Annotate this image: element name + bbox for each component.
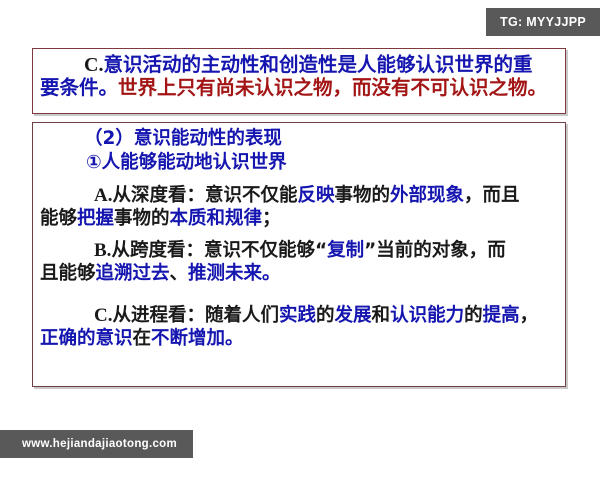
- answer-option-textbox: C.意识活动的主动性和创造性是人能够认识世界的重 要条件。世界上只有尚未认识之物…: [32, 48, 566, 114]
- run-a2-4: 本质和规律: [170, 208, 263, 229]
- option-c-text-red: 世界上只有尚未认识之物，而没有不可认识之物。: [118, 76, 547, 99]
- run-b2-3: 、: [170, 263, 189, 284]
- paragraph-b: B.从跨度看：意识不仅能够“复制”当前的对象，而 且能够追溯过去、推测未来。: [40, 241, 558, 284]
- run-a2-5: ；: [262, 208, 281, 229]
- site-url-watermark: www.hejiandajiaotong.com: [0, 430, 193, 458]
- run-c1-9: ，: [520, 305, 539, 326]
- option-c-text-blue: 意识活动的主动性和创造性是人能够认识世界的重: [103, 53, 532, 76]
- run-c1-1: 从进程看：随着人们: [112, 305, 279, 326]
- lesson-notes-content: （2）意识能动性的表现 ①人能够能动地认识世界 A.从深度看：意识不仅能反映事物…: [33, 123, 565, 386]
- option-c-line-2: 要条件。世界上只有尚未认识之物，而没有不可认识之物。: [40, 78, 558, 98]
- paragraph-marker-a: A.: [94, 185, 112, 206]
- lesson-notes-textbox: （2）意识能动性的表现 ①人能够能动地认识世界 A.从深度看：意识不仅能反映事物…: [32, 122, 566, 387]
- run-c1-2: 实践: [279, 305, 316, 326]
- paragraph-c-line-2: 正确的意识在不断增加。: [40, 330, 558, 349]
- run-c1-4: 发展: [335, 305, 372, 326]
- run-c2-1: 正确的意识: [40, 328, 133, 349]
- run-b1-1: 从跨度看：意识不仅能够“: [111, 240, 327, 261]
- run-c1-6: 认识能力: [390, 305, 464, 326]
- paragraph-c-line-1: C.从进程看：随着人们实践的发展和认识能力的提高，: [40, 306, 558, 326]
- paragraph-marker-c: C.: [94, 305, 112, 326]
- section-heading-2: （2）意识能动性的表现: [40, 130, 558, 149]
- answer-option-content: C.意识活动的主动性和创造性是人能够认识世界的重 要条件。世界上只有尚未认识之物…: [33, 49, 565, 113]
- paragraph-a-line-2: 能够把握事物的本质和规律；: [40, 210, 558, 229]
- run-b2-2: 追溯过去: [96, 263, 170, 284]
- option-c-text-blue-cont: 要条件。: [40, 76, 118, 99]
- paragraph-marker-b: B.: [94, 240, 111, 261]
- slide-canvas: TG: MYYJJPP C.意识活动的主动性和创造性是人能够认识世界的重 要条件…: [0, 0, 600, 480]
- paragraph-b-line-2: 且能够追溯过去、推测未来。: [40, 265, 558, 284]
- run-b2-1: 且能够: [40, 263, 96, 284]
- paragraph-a-line-1: A.从深度看：意识不仅能反映事物的外部现象，而且: [40, 186, 558, 206]
- run-a1-1: 从深度看：意识不仅能: [112, 185, 297, 206]
- paragraph-a: A.从深度看：意识不仅能反映事物的外部现象，而且 能够把握事物的本质和规律；: [40, 186, 558, 229]
- run-a2-2: 把握: [77, 208, 114, 229]
- run-c1-5: 和: [372, 305, 391, 326]
- option-c-line-1: C.意识活动的主动性和创造性是人能够认识世界的重: [40, 55, 558, 75]
- run-c1-8: 提高: [483, 305, 520, 326]
- run-a1-3: 事物的: [335, 185, 391, 206]
- run-a2-1: 能够: [40, 208, 77, 229]
- subsection-heading-1: ①人能够能动地认识世界: [40, 154, 558, 173]
- run-c2-2: 在: [133, 328, 152, 349]
- run-c1-7: 的: [464, 305, 483, 326]
- run-c2-3: 不断增加。: [151, 328, 244, 349]
- run-b2-4: 推测未来。: [188, 263, 281, 284]
- paragraph-b-line-1: B.从跨度看：意识不仅能够“复制”当前的对象，而: [40, 241, 558, 261]
- run-c1-3: 的: [316, 305, 335, 326]
- run-a1-4: 外部现象: [390, 185, 464, 206]
- run-b1-2: 复制: [327, 240, 364, 261]
- run-a2-3: 事物的: [114, 208, 170, 229]
- option-marker-c: C.: [84, 54, 103, 76]
- run-b1-3: ”当前的对象，而: [364, 240, 506, 261]
- run-a1-5: ，而且: [464, 185, 520, 206]
- telegram-watermark: TG: MYYJJPP: [486, 8, 600, 36]
- run-a1-2: 反映: [298, 185, 335, 206]
- paragraph-c: C.从进程看：随着人们实践的发展和认识能力的提高， 正确的意识在不断增加。: [40, 306, 558, 349]
